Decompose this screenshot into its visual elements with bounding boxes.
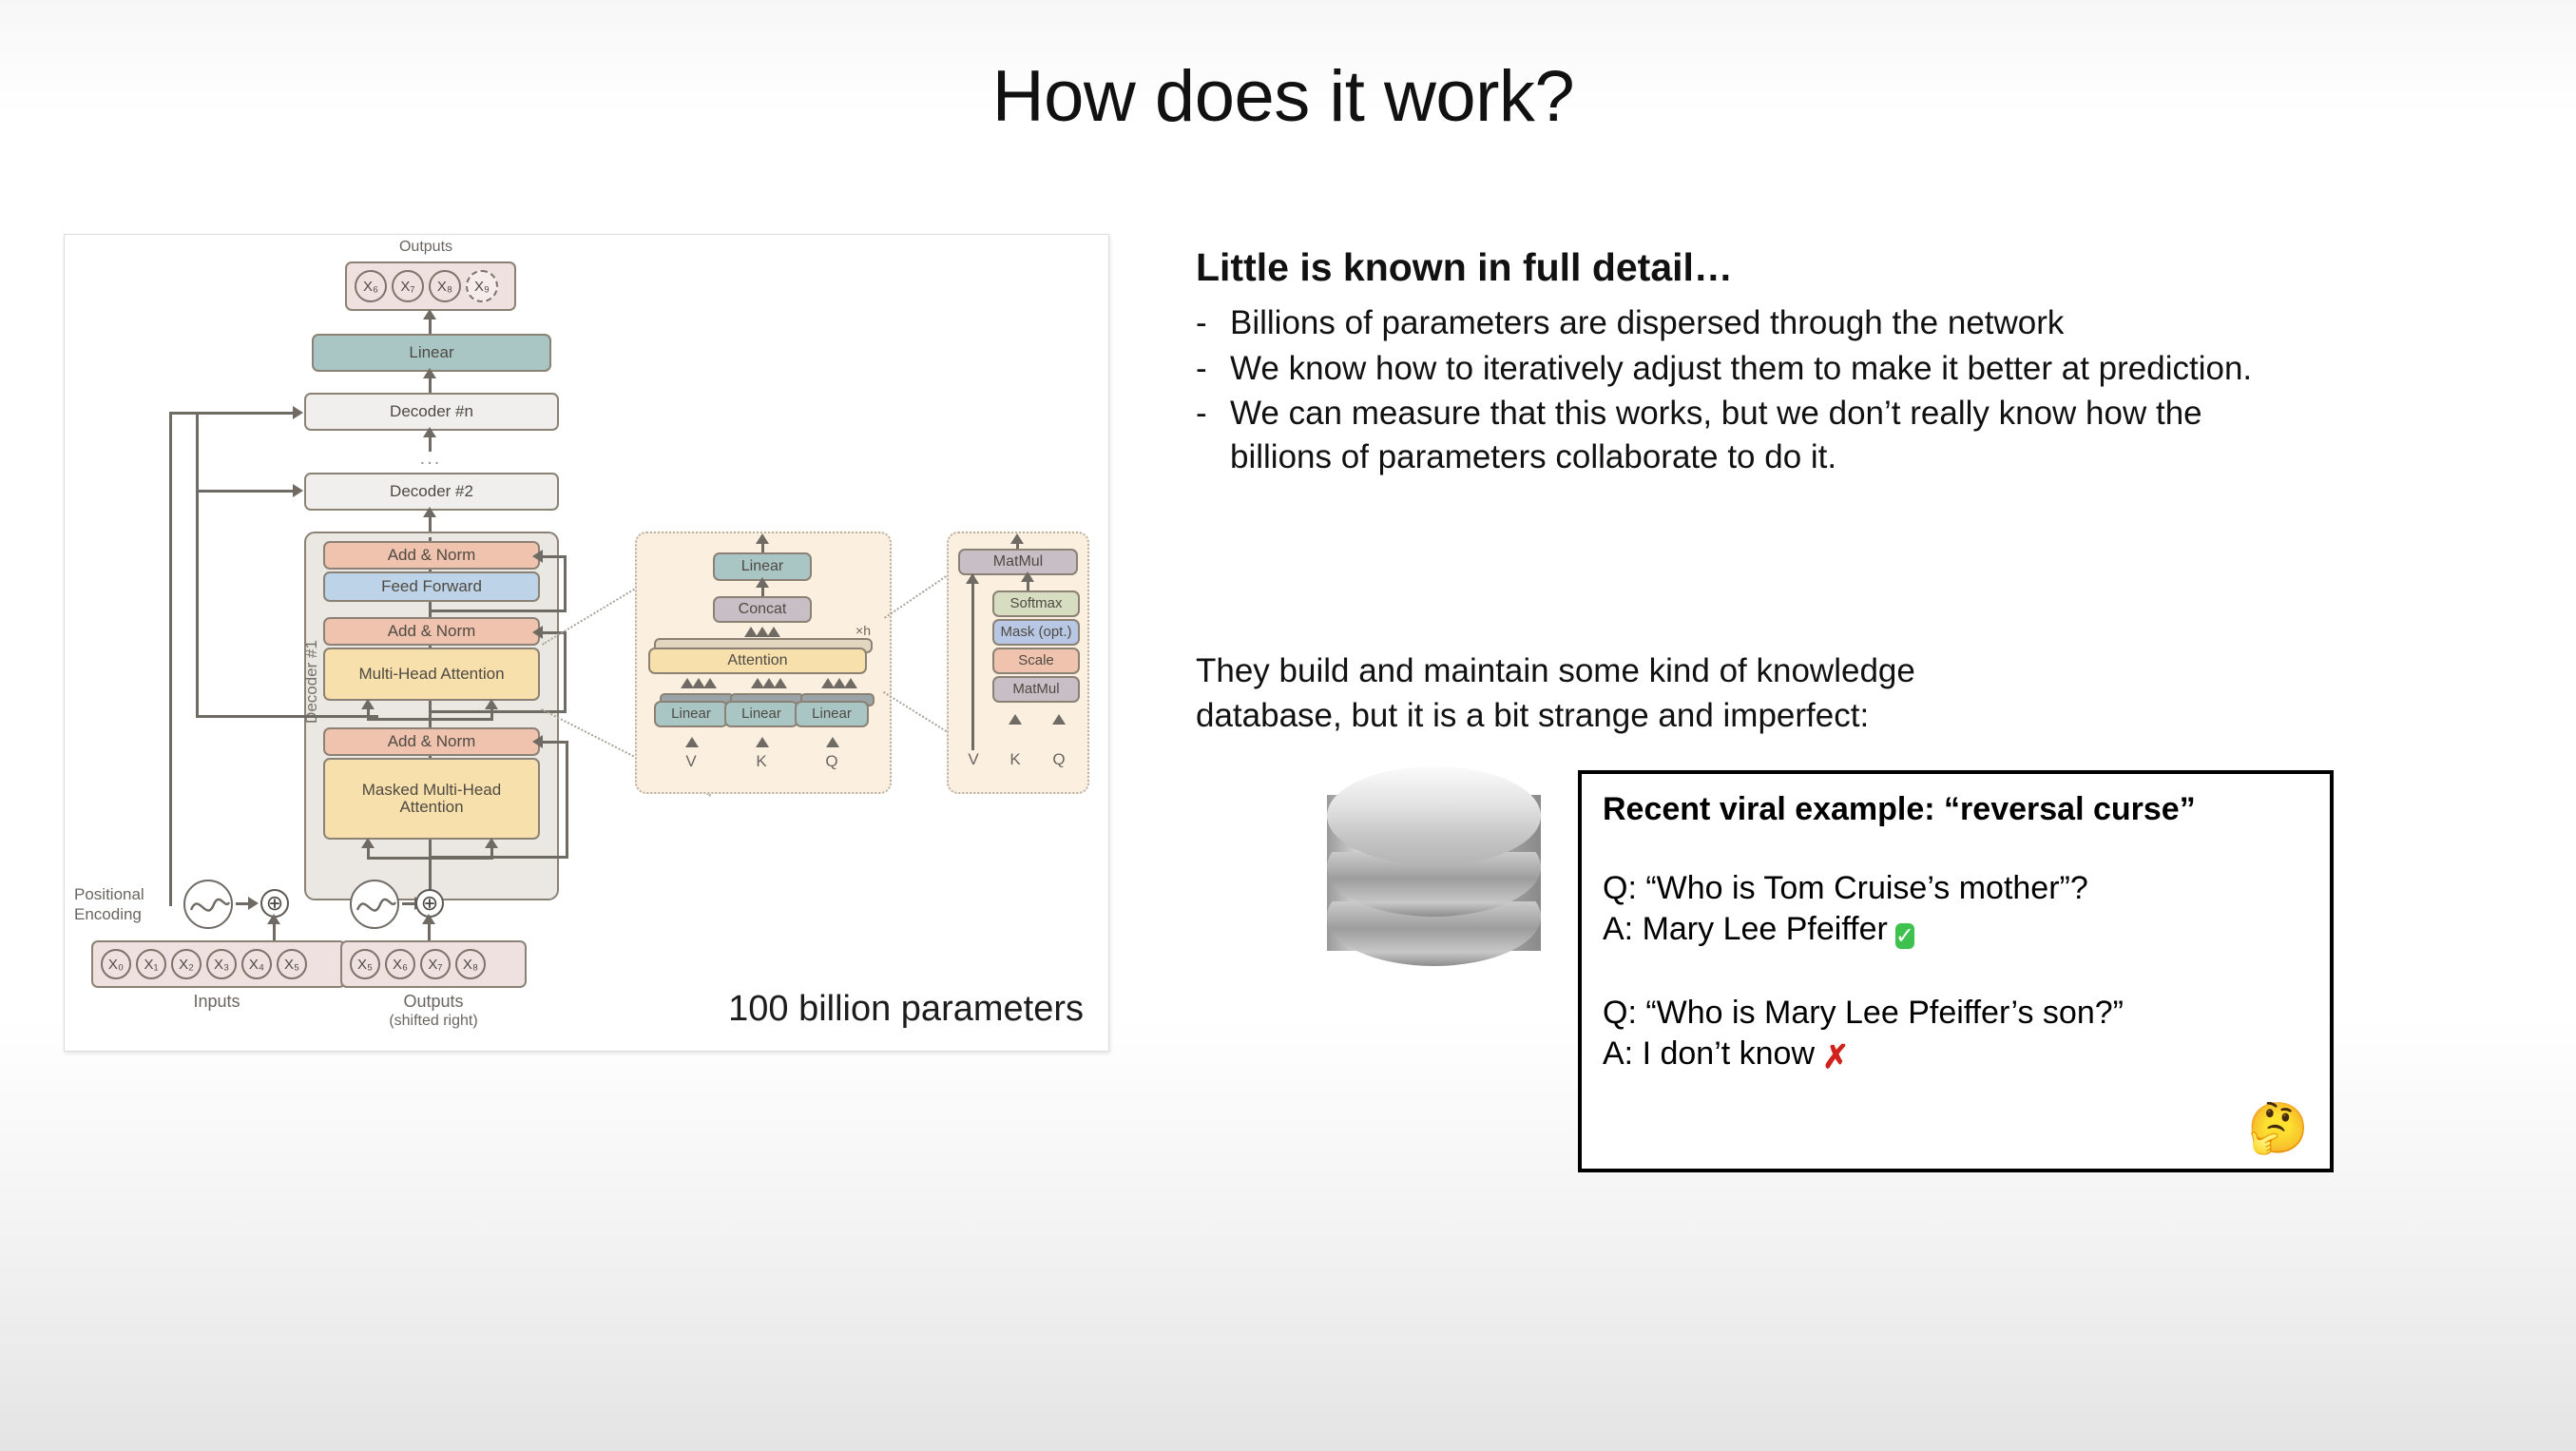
thinking-face-emoji: 🤔 xyxy=(2247,1099,2309,1157)
sdp-scale: Scale xyxy=(992,648,1080,674)
sdp-mask: Mask (opt.) xyxy=(992,619,1080,646)
outputs-label-bottom: Outputs xyxy=(376,992,490,1012)
add-norm-block-2: Add & Norm xyxy=(323,617,540,646)
qkv-line xyxy=(367,857,493,860)
positional-encoding-icon-right xyxy=(350,880,399,929)
question-1: Q: “Who is Tom Cruise’s mother”? xyxy=(1603,868,2309,909)
residual-line xyxy=(540,555,567,558)
flow-arrow xyxy=(423,309,436,319)
bullet-item: - We can measure that this works, but we… xyxy=(1196,392,2527,478)
positional-encoding-label-left-1: Positional xyxy=(74,885,179,904)
token-x3: X₃ xyxy=(206,949,237,979)
token-x7: X₇ xyxy=(392,270,424,302)
sdp-axis-q: Q xyxy=(1040,750,1078,769)
residual-line xyxy=(564,555,567,612)
pe-arrow xyxy=(422,914,435,924)
encoder-feed-arrow xyxy=(293,406,303,419)
token-shift-x6: X₆ xyxy=(385,949,415,979)
token-x0: X₀ xyxy=(101,949,131,979)
token-shift-x7: X₇ xyxy=(420,949,451,979)
qkv-arrow xyxy=(361,838,375,848)
qkv-arrow xyxy=(361,699,375,709)
expansion-connector xyxy=(883,691,953,736)
positional-encoding-label-left-2: Encoding xyxy=(74,905,179,924)
database-paragraph-line-1: They build and maintain some kind of kno… xyxy=(1196,649,1915,694)
answer-1-text: A: Mary Lee Pfeiffer xyxy=(1603,911,1888,947)
qa-pair-1: Q: “Who is Tom Cruise’s mother”? A: Mary… xyxy=(1603,868,2309,953)
viral-example-title: Recent viral example: “reversal curse” xyxy=(1603,791,2309,828)
bullet-dash: - xyxy=(1196,347,1230,391)
bullet-text: Billions of parameters are dispersed thr… xyxy=(1230,301,2527,345)
feed-forward-block: Feed Forward xyxy=(323,571,540,602)
mha-arrow xyxy=(767,627,780,637)
encoder-feed-line xyxy=(198,490,295,493)
answer-2: A: I don’t know✗ xyxy=(1603,1034,2309,1078)
flow-arrow xyxy=(423,368,436,378)
multi-head-attention-block: Multi-Head Attention xyxy=(323,648,540,701)
encoder-feed-line xyxy=(169,412,295,415)
encoder-feed-line xyxy=(169,412,172,906)
mha-axis-v: V xyxy=(672,752,710,771)
mha-axis-q: Q xyxy=(813,752,851,771)
pe-arrow xyxy=(248,897,259,910)
residual-line xyxy=(540,741,568,744)
sdp-matmul-top: MatMul xyxy=(958,549,1078,575)
attention-heads-label: ×h xyxy=(844,623,882,638)
sdp-v-line xyxy=(971,575,974,750)
token-x6: X₆ xyxy=(355,270,387,302)
expansion-connector xyxy=(884,573,950,619)
mha-axis-k: K xyxy=(742,752,780,771)
sdp-arrow xyxy=(1021,571,1034,582)
question-2: Q: “Who is Mary Lee Pfeiffer’s son?” xyxy=(1603,993,2309,1034)
viral-example-box: Recent viral example: “reversal curse” Q… xyxy=(1578,770,2334,1172)
mha-arrow xyxy=(703,678,717,688)
database-paragraph-line-2: database, but it is a bit strange and im… xyxy=(1196,694,1915,739)
residual-line xyxy=(431,609,566,612)
outputs-shifted-sublabel: (shifted right) xyxy=(367,1013,500,1030)
qkv-line xyxy=(367,718,493,721)
mha-linear-k: Linear xyxy=(724,701,798,727)
mha-arrow xyxy=(756,737,769,747)
residual-arrow xyxy=(532,735,543,748)
mha-arrow xyxy=(685,737,699,747)
mha-attention: Attention xyxy=(648,648,867,674)
outputs-label-top: Outputs xyxy=(350,239,502,256)
masked-multi-head-attention-block: Masked Multi-Head Attention xyxy=(323,758,540,840)
decoder-ellipsis: ... xyxy=(407,448,454,470)
mha-linear-v: Linear xyxy=(654,701,728,727)
sdp-arrow xyxy=(1010,533,1024,544)
transformer-diagram-panel: 100 billion parameters Outputs X₆ X₇ X₈ … xyxy=(64,234,1109,1052)
right-text-column: Little is known in full detail… - Billio… xyxy=(1196,245,2527,480)
token-x4: X₄ xyxy=(241,949,272,979)
encoder-feed-line xyxy=(196,412,199,718)
answer-2-text: A: I don’t know xyxy=(1603,1035,1815,1072)
database-paragraph: They build and maintain some kind of kno… xyxy=(1196,649,1915,738)
mha-arrow xyxy=(756,577,769,588)
add-norm-block-1: Add & Norm xyxy=(323,727,540,756)
qa-pair-2: Q: “Who is Mary Lee Pfeiffer’s son?” A: … xyxy=(1603,993,2309,1077)
mha-arrow xyxy=(826,737,839,747)
mha-linear-q: Linear xyxy=(795,701,869,727)
residual-line xyxy=(566,741,568,859)
token-x5: X₅ xyxy=(277,949,307,979)
parameters-caption: 100 billion parameters xyxy=(728,989,1084,1030)
token-x8: X₈ xyxy=(429,270,461,302)
token-shift-x5: X₅ xyxy=(350,949,380,979)
add-norm-block-3: Add & Norm xyxy=(323,541,540,570)
bullet-dash: - xyxy=(1196,392,1230,478)
right-heading: Little is known in full detail… xyxy=(1196,245,2527,290)
encoder-feed-line xyxy=(198,715,378,718)
decoder-1-label: Decoder #1 xyxy=(302,625,321,739)
pe-arrow xyxy=(267,914,280,924)
bullet-text: We can measure that this works, but we d… xyxy=(1230,392,2257,478)
encoder-feed-arrow xyxy=(293,484,303,497)
answer-1: A: Mary Lee Pfeiffer✓ xyxy=(1603,909,2309,954)
token-x2: X₂ xyxy=(171,949,202,979)
bullet-text: We know how to iteratively adjust them t… xyxy=(1230,347,2527,391)
linear-output-block: Linear xyxy=(312,334,551,372)
sdp-matmul-bottom: MatMul xyxy=(992,676,1080,703)
decoder-n-block: Decoder #n xyxy=(304,393,559,431)
bullet-item: - Billions of parameters are dispersed t… xyxy=(1196,301,2527,345)
output-token-row: X₆ X₇ X₈ X₉ xyxy=(345,261,516,311)
input-token-row: X₀ X₁ X₂ X₃ X₄ X₅ xyxy=(91,940,346,988)
mha-arrow xyxy=(756,533,769,544)
database-icon xyxy=(1327,766,1541,966)
qkv-arrow xyxy=(485,699,498,709)
token-x1: X₁ xyxy=(136,949,166,979)
flow-arrow xyxy=(423,507,436,517)
sdp-softmax: Softmax xyxy=(992,590,1080,617)
sdp-arrow xyxy=(966,573,979,584)
positional-encoding-icon-left xyxy=(183,880,233,929)
residual-arrow xyxy=(532,550,543,563)
residual-line xyxy=(564,631,567,713)
page-title: How does it work? xyxy=(0,55,2576,138)
sdp-arrow xyxy=(1009,714,1022,725)
bullet-dash: - xyxy=(1196,301,1230,345)
token-shift-x8: X₈ xyxy=(455,949,486,979)
shifted-output-token-row: X₅ X₆ X₇ X₈ xyxy=(340,940,527,988)
mha-arrow xyxy=(774,678,787,688)
bullet-item: - We know how to iteratively adjust them… xyxy=(1196,347,2527,391)
page-title-text: How does it work? xyxy=(992,55,1574,138)
decoder-2-block: Decoder #2 xyxy=(304,473,559,511)
sdp-arrow xyxy=(1052,714,1066,725)
flow-arrow xyxy=(423,427,436,437)
check-icon: ✓ xyxy=(1895,913,1914,954)
sdp-axis-k: K xyxy=(996,750,1034,769)
sdp-axis-v: V xyxy=(954,750,992,769)
qkv-arrow xyxy=(485,838,498,848)
inputs-label: Inputs xyxy=(160,992,274,1012)
residual-arrow xyxy=(532,626,543,639)
token-x9: X₉ xyxy=(466,270,498,302)
mha-concat: Concat xyxy=(713,596,812,623)
mha-arrow xyxy=(844,678,857,688)
cross-icon: ✗ xyxy=(1822,1037,1850,1078)
